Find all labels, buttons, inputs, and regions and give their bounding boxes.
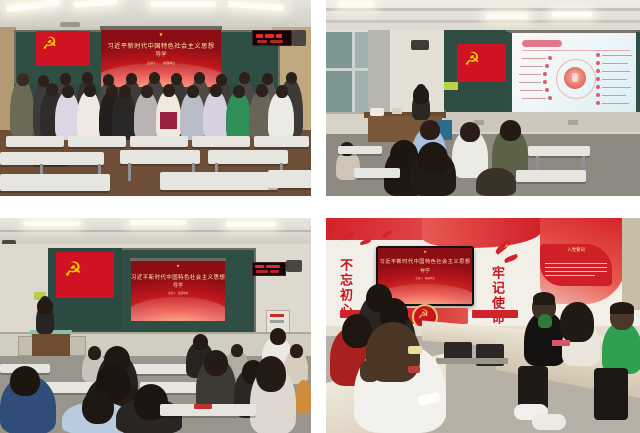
slide-subtitle: 导学 xyxy=(101,50,221,58)
led-panel xyxy=(252,262,286,276)
photo-top-left: ☭ ★ 习近平新时代中国特色社会主义思想 导学 主讲人： 授课单位 xyxy=(0,0,311,196)
party-flag-icon: ☭ xyxy=(56,252,114,298)
photo-bottom-left: ☭ ★ 习近平新时代中国特色社会主义思想 导学 主讲人 授课单位 xyxy=(0,218,311,433)
slide-bottom-right: ★ 习近平新时代中国特色社会主义思想 导学 主讲人 授课单位 xyxy=(378,248,472,304)
photo-bottom-right: 不忘初心 牢记使命 ★ 习近平新时代中国特色社会主义思想 导学 主讲人 授课单位… xyxy=(326,218,640,433)
photo-top-right: ☭ xyxy=(326,0,640,196)
slide-top-right xyxy=(512,33,636,115)
slide-title: 习近平新时代中国特色社会主义思想 xyxy=(131,273,225,281)
slide-byline-right: 授课单位 xyxy=(163,61,175,65)
slide-subtitle: 导学 xyxy=(131,282,225,289)
slide-title: 习近平新时代中国特色社会主义思想 xyxy=(101,41,221,50)
led-panel xyxy=(252,30,292,46)
wall-poster: 入党誓词 ☭ xyxy=(540,244,612,286)
wall-slogan-left: 不忘初心 xyxy=(336,258,352,318)
party-flag-icon: ☭ xyxy=(457,44,506,82)
slide-bottom-left: ★ 习近平新时代中国特色社会主义思想 导学 主讲人 授课单位 xyxy=(131,261,225,321)
slide-byline-left: 主讲人： xyxy=(147,61,159,65)
photo-collage: ☭ ★ 习近平新时代中国特色社会主义思想 导学 主讲人： 授课单位 xyxy=(0,0,640,433)
party-flag-icon: ☭ xyxy=(36,31,90,66)
slide-subtitle: 导学 xyxy=(378,267,472,274)
slide-title: 习近平新时代中国特色社会主义思想 xyxy=(378,258,472,265)
